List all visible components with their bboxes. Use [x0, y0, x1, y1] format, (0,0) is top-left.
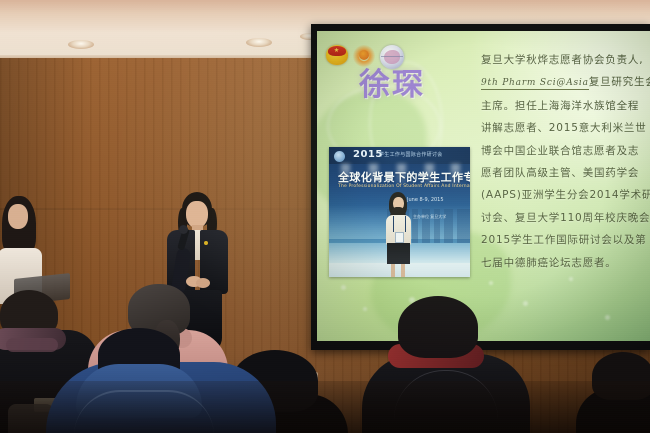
lapel-pin-icon — [204, 241, 208, 245]
ceiling-downlight-icon — [68, 40, 94, 49]
person-head — [398, 296, 478, 358]
person-face — [8, 204, 28, 229]
slide-vignette — [317, 31, 650, 341]
projection-screen[interactable]: 徐琛 2015 学生工作与国际合作研讨会 全球化背景下的学生工作专业化 The … — [317, 31, 650, 341]
person-face — [186, 201, 208, 228]
microphone-head-icon — [179, 225, 188, 234]
foreground-shadow — [0, 381, 650, 433]
ceiling-downlight-icon — [246, 38, 272, 47]
screenshot-root: 徐琛 2015 学生工作与国际合作研讨会 全球化背景下的学生工作专业化 The … — [0, 0, 650, 433]
